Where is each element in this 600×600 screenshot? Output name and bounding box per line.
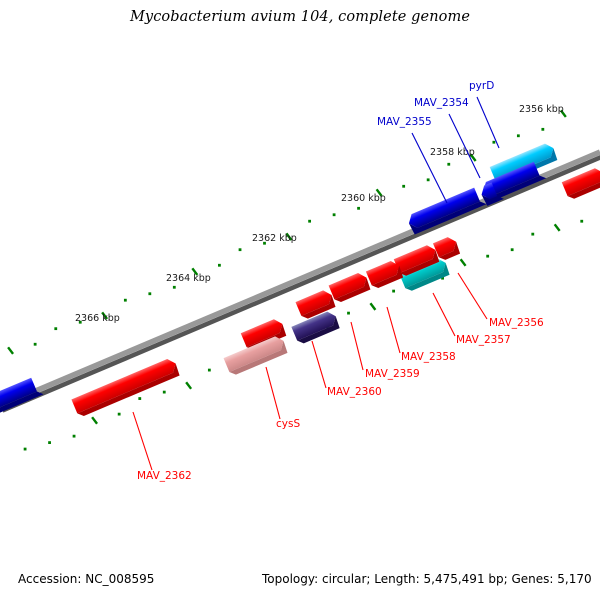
accession-status: Accession: NC_008595 [18,572,154,586]
gene-box-left-blue-edge[interactable] [0,376,44,415]
leader-line-MAV_2356 [458,273,487,319]
tick-mark-dot [24,448,27,451]
axis-tick-labels-layer: 2356 kbp2358 kbp2360 kbp2362 kbp2364 kbp… [75,104,564,324]
tick-mark-dot [427,178,430,181]
tick-mark-dot [333,213,336,216]
tick-mark-dot [173,286,176,289]
gene-label-MAV_2358[interactable]: MAV_2358 [401,351,456,363]
tick-mark-dot [447,163,450,166]
gene-label-MAV_2355[interactable]: MAV_2355 [377,116,432,128]
tick-mark-dot [138,397,141,400]
leader-line-cysS [266,367,280,419]
tick-mark-dash [8,347,13,354]
gene-box-MAV_2362[interactable] [71,357,180,418]
tick-mark-dot [392,290,395,293]
leader-line-MAV_2354 [449,114,480,178]
leader-line-MAV_2362 [133,412,152,470]
tick-mark-dot [218,264,221,267]
gene-label-cysS[interactable]: cysS [276,418,300,430]
tick-mark-dot [511,248,514,251]
axis-tick-label-5: 2366 kbp [75,313,120,324]
tick-mark-dot [54,327,57,330]
tick-mark-dot [118,413,121,416]
gene-label-MAV_2360[interactable]: MAV_2360 [327,386,382,398]
gene-label-MAV_2354[interactable]: MAV_2354 [414,97,469,109]
tick-mark-dot [308,220,311,223]
tick-mark-dot [402,185,405,188]
gene-label-pyrD[interactable]: pyrD [469,80,494,92]
tick-mark-dot [34,343,37,346]
tick-mark-dot [124,299,127,302]
tick-mark-dot [580,220,583,223]
genome-stats-status: Topology: circular; Length: 5,475,491 bp… [262,572,592,586]
leader-line-pyrD [477,97,499,148]
tick-mark-dot [73,435,76,438]
gene-box-top [71,357,178,414]
axis-shadow [3,157,600,411]
tick-mark-dot [347,312,350,315]
axis-tick-label-3: 2362 kbp [252,233,297,244]
axis-tick-label-0: 2356 kbp [519,104,564,115]
leader-line-MAV_2357 [433,293,455,336]
gene-box-MAV_2359[interactable] [329,271,372,304]
tick-mark-dash [370,303,375,310]
tick-mark-dot [486,255,489,258]
genome-map-svg: 2356 kbp2358 kbp2360 kbp2362 kbp2364 kbp… [0,0,600,600]
genome-browser-canvas: Mycobacterium avium 104, complete genome [0,0,600,600]
tick-mark-dot [541,128,544,131]
tick-mark-dash [461,259,466,266]
tick-mark-dash [186,382,191,389]
tick-mark-dash [92,417,97,424]
tick-mark-dot [148,292,151,295]
axis-tick-label-4: 2364 kbp [166,273,211,284]
leader-line-MAV_2358 [387,307,400,353]
tick-mark-dot [163,391,166,394]
tick-mark-dot [492,141,495,144]
gene-label-MAV_2362[interactable]: MAV_2362 [137,470,192,482]
gene-label-MAV_2359[interactable]: MAV_2359 [365,368,420,380]
gene-label-MAV_2357[interactable]: MAV_2357 [456,334,511,346]
tick-mark-dot [531,233,534,236]
leader-line-MAV_2355 [412,133,447,203]
leader-line-MAV_2359 [351,322,363,370]
tick-mark-dot [208,369,211,372]
leader-line-MAV_2360 [312,341,326,388]
gene-label-MAV_2356[interactable]: MAV_2356 [489,317,544,329]
axis-tick-label-2: 2360 kbp [341,193,386,204]
tick-mark-dot [48,441,51,444]
tick-mark-dot [239,248,242,251]
tick-mark-dash [555,224,560,231]
tick-mark-dot [517,134,520,137]
tick-mark-dot [357,207,360,210]
